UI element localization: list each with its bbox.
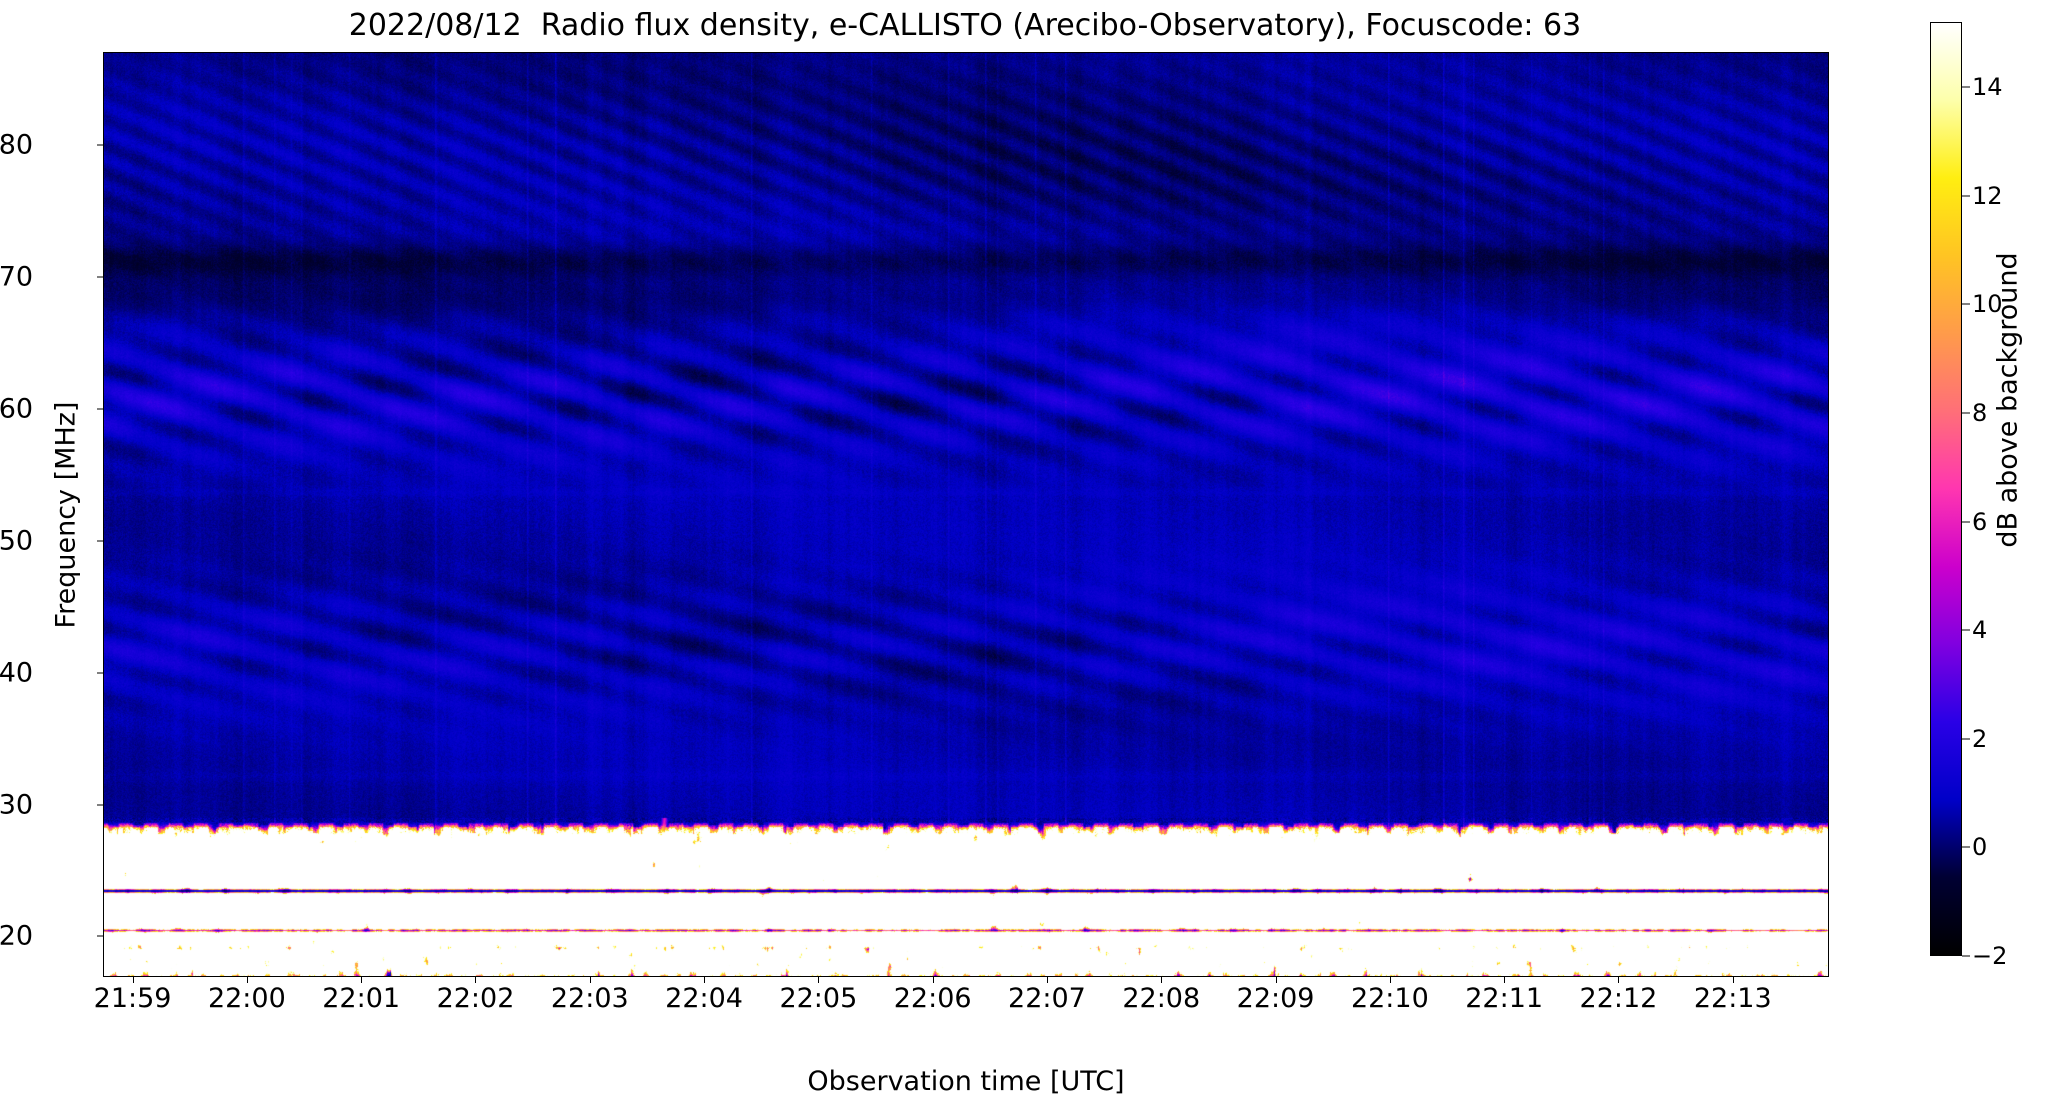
colorbar-tick-label: 14 (1972, 73, 2003, 101)
y-tick-mark (97, 804, 104, 805)
x-tick-label: 22:09 (1237, 983, 1315, 1014)
colorbar-tick-mark (1962, 412, 1970, 413)
colorbar-tick-mark (1962, 304, 1970, 305)
x-tick-mark (1276, 976, 1277, 983)
x-tick-mark (1047, 976, 1048, 983)
x-tick-label: 22:07 (1008, 983, 1086, 1014)
x-axis-label: Observation time [UTC] (807, 1066, 1124, 1097)
y-tick-label: 30 (0, 789, 35, 820)
y-tick-label: 20 (0, 921, 35, 952)
colorbar-gradient-frame (1930, 22, 1962, 956)
x-tick-label: 22:13 (1694, 983, 1772, 1014)
x-tick-mark (1618, 976, 1619, 983)
colorbar-label: dB above background (1993, 252, 2024, 547)
colorbar[interactable]: 14121086420−2 (1930, 22, 1962, 956)
x-tick-label: 22:04 (665, 983, 743, 1014)
x-tick-label: 22:12 (1580, 983, 1658, 1014)
x-tick-mark (133, 976, 134, 983)
x-tick-label: 22:11 (1465, 983, 1543, 1014)
x-tick-mark (1733, 976, 1734, 983)
figure-canvas: 2022/08/12 Radio flux density, e-CALLIST… (0, 0, 2047, 1067)
y-tick-mark (97, 277, 104, 278)
y-tick-mark (97, 540, 104, 541)
x-tick-label: 22:00 (208, 983, 286, 1014)
colorbar-tick-label: 6 (1972, 508, 1987, 536)
colorbar-tick-mark (1962, 195, 1970, 196)
x-tick-mark (1504, 976, 1505, 983)
x-tick-label: 22:05 (779, 983, 857, 1014)
x-tick-label: 22:02 (437, 983, 515, 1014)
x-tick-mark (818, 976, 819, 983)
colorbar-tick-mark (1962, 956, 1970, 957)
y-tick-mark (97, 672, 104, 673)
x-tick-mark (933, 976, 934, 983)
y-axis-label: Frequency [MHz] (51, 402, 82, 629)
y-tick-label: 60 (0, 394, 35, 425)
spectrogram-axes[interactable]: Frequency [MHz] 80706050403020 Observati… (103, 52, 1829, 977)
x-tick-mark (1161, 976, 1162, 983)
colorbar-tick-label: 2 (1972, 725, 1987, 753)
x-tick-mark (475, 976, 476, 983)
y-tick-mark (97, 936, 104, 937)
colorbar-tick-label: −2 (1972, 942, 2007, 970)
colorbar-gradient (1931, 23, 1961, 955)
colorbar-tick-mark (1962, 847, 1970, 848)
colorbar-tick-mark (1962, 630, 1970, 631)
colorbar-tick-mark (1962, 738, 1970, 739)
colorbar-tick-mark (1962, 521, 1970, 522)
x-tick-mark (361, 976, 362, 983)
x-tick-mark (1390, 976, 1391, 983)
colorbar-tick-label: 0 (1972, 833, 1987, 861)
y-tick-mark (97, 409, 104, 410)
y-tick-mark (97, 145, 104, 146)
x-tick-label: 22:08 (1122, 983, 1200, 1014)
x-tick-mark (247, 976, 248, 983)
y-tick-label: 70 (0, 262, 35, 293)
colorbar-tick-mark (1962, 87, 1970, 88)
x-tick-label: 21:59 (94, 983, 172, 1014)
x-tick-mark (590, 976, 591, 983)
y-tick-label: 40 (0, 657, 35, 688)
spectrogram-image (104, 53, 1828, 976)
y-tick-label: 50 (0, 525, 35, 556)
x-tick-label: 22:03 (551, 983, 629, 1014)
colorbar-tick-label: 4 (1972, 616, 1987, 644)
page-title: 2022/08/12 Radio flux density, e-CALLIST… (103, 8, 1827, 44)
x-tick-mark (704, 976, 705, 983)
x-tick-label: 22:10 (1351, 983, 1429, 1014)
x-tick-label: 22:01 (322, 983, 400, 1014)
x-tick-label: 22:06 (894, 983, 972, 1014)
y-tick-label: 80 (0, 130, 35, 161)
colorbar-tick-label: 8 (1972, 399, 1987, 427)
colorbar-tick-label: 12 (1972, 182, 2003, 210)
